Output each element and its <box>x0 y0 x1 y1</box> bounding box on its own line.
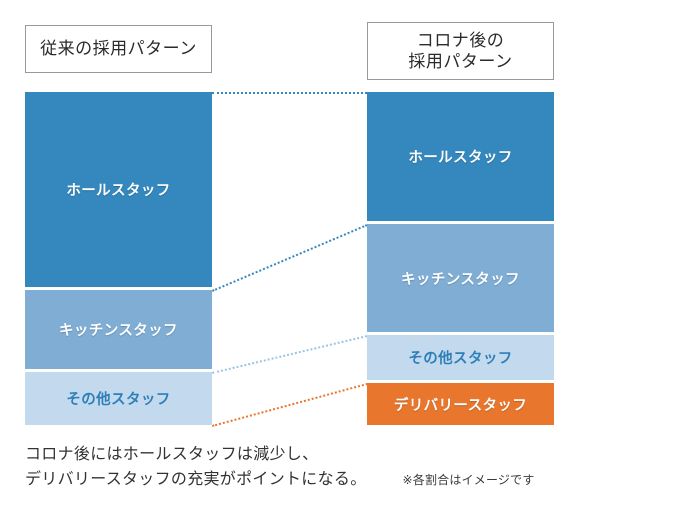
caption-block: コロナ後にはホールスタッフは減少し、 デリバリースタッフの充実がポイントになる。… <box>25 443 675 493</box>
column-header-before: 従来の採用パターン <box>25 25 212 73</box>
segment-before-other: その他スタッフ <box>25 372 212 425</box>
caption-line-2: デリバリースタッフの充実がポイントになる。 <box>25 468 367 493</box>
column-header-after-line2: 採用パターン <box>408 52 512 71</box>
column-header-after-label: コロナ後の 採用パターン <box>408 30 512 73</box>
segment-after-hall: ホールスタッフ <box>367 92 554 224</box>
segment-before-hall: ホールスタッフ <box>25 92 212 290</box>
caption-row-2: デリバリースタッフの充実がポイントになる。 ※各割合はイメージです <box>25 468 675 493</box>
segment-before-kitchen: キッチンスタッフ <box>25 290 212 372</box>
column-header-after-line1: コロナ後の <box>417 31 505 50</box>
column-header-after: コロナ後の 採用パターン <box>367 22 554 80</box>
segment-after-other-label: その他スタッフ <box>408 347 512 368</box>
stacked-column-after: ホールスタッフ キッチンスタッフ その他スタッフ デリバリースタッフ <box>367 92 554 425</box>
caption-note: ※各割合はイメージです <box>403 471 535 488</box>
column-header-before-label: 従来の採用パターン <box>40 38 197 59</box>
infographic-canvas: 従来の採用パターン コロナ後の 採用パターン ホールスタッフ キッチンスタッフ … <box>0 0 700 515</box>
segment-after-hall-label: ホールスタッフ <box>408 146 512 167</box>
stacked-column-before: ホールスタッフ キッチンスタッフ その他スタッフ <box>25 92 212 425</box>
segment-before-other-label: その他スタッフ <box>66 388 170 409</box>
segment-before-hall-label: ホールスタッフ <box>66 179 170 200</box>
segment-after-kitchen: キッチンスタッフ <box>367 224 554 335</box>
connector-hall-top <box>212 92 367 94</box>
segment-after-delivery: デリバリースタッフ <box>367 383 554 425</box>
segment-after-kitchen-label: キッチンスタッフ <box>401 268 520 289</box>
segment-before-kitchen-label: キッチンスタッフ <box>59 319 178 340</box>
segment-after-other: その他スタッフ <box>367 335 554 383</box>
connector-other-bottom <box>212 335 367 374</box>
segment-after-delivery-label: デリバリースタッフ <box>394 394 527 415</box>
caption-line-1: コロナ後にはホールスタッフは減少し、 <box>25 443 675 468</box>
connector-hall-bottom <box>212 224 368 292</box>
connector-delivery-line <box>212 383 368 427</box>
